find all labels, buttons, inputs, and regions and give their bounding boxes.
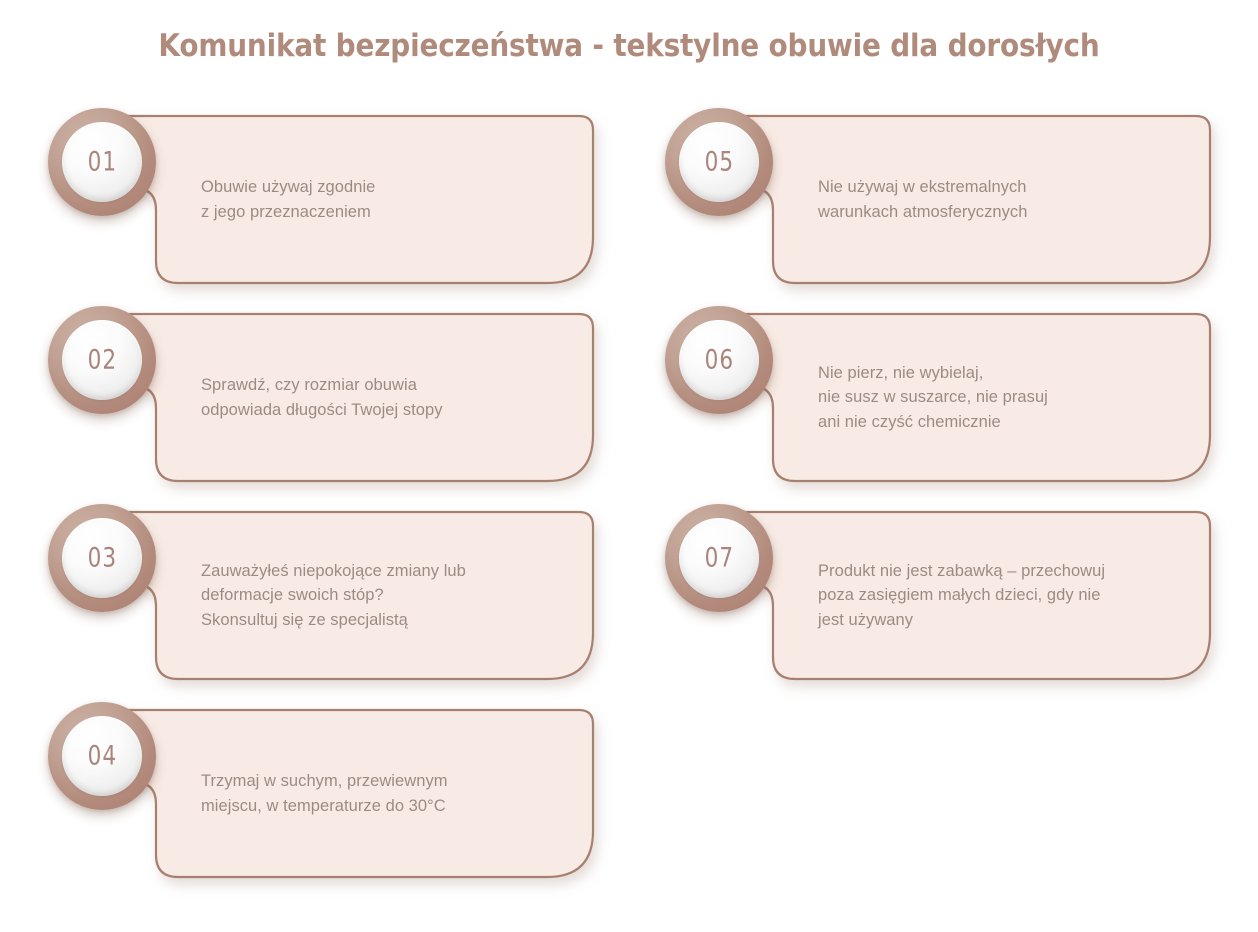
card-grid: Obuwie używaj zgodnie z jego przeznaczen…	[0, 0, 1258, 932]
card-number-badge: 06	[665, 306, 773, 414]
badge-inner-disc: 07	[679, 518, 759, 598]
card-text: Obuwie używaj zgodnie z jego przeznaczen…	[201, 116, 591, 283]
card-panel: Nie pierz, nie wybielaj, nie susz w susz…	[713, 314, 1210, 481]
safety-card: Produkt nie jest zabawką – przechowuj po…	[665, 504, 1210, 679]
card-number-badge: 03	[48, 504, 156, 612]
badge-number-label: 06	[704, 344, 733, 375]
badge-number-label: 05	[704, 146, 733, 177]
card-number-badge: 01	[48, 108, 156, 216]
card-panel: Produkt nie jest zabawką – przechowuj po…	[713, 512, 1210, 679]
card-text: Produkt nie jest zabawką – przechowuj po…	[818, 512, 1208, 679]
card-text: Nie używaj w ekstremalnych warunkach atm…	[818, 116, 1208, 283]
card-panel: Obuwie używaj zgodnie z jego przeznaczen…	[96, 116, 593, 283]
badge-inner-disc: 04	[62, 716, 142, 796]
badge-number-label: 03	[87, 542, 116, 573]
card-text: Sprawdź, czy rozmiar obuwia odpowiada dł…	[201, 314, 591, 481]
badge-number-label: 07	[704, 542, 733, 573]
card-text: Zauważyłeś niepokojące zmiany lub deform…	[201, 512, 591, 679]
card-number-badge: 07	[665, 504, 773, 612]
badge-inner-disc: 05	[679, 122, 759, 202]
card-text: Trzymaj w suchym, przewiewnym miejscu, w…	[201, 710, 591, 877]
card-number-badge: 04	[48, 702, 156, 810]
badge-number-label: 04	[87, 740, 116, 771]
safety-card: Trzymaj w suchym, przewiewnym miejscu, w…	[48, 702, 593, 877]
infographic-page: Komunikat bezpieczeństwa - tekstylne obu…	[0, 0, 1258, 932]
card-panel: Trzymaj w suchym, przewiewnym miejscu, w…	[96, 710, 593, 877]
safety-card: Nie używaj w ekstremalnych warunkach atm…	[665, 108, 1210, 283]
safety-card: Nie pierz, nie wybielaj, nie susz w susz…	[665, 306, 1210, 481]
badge-inner-disc: 01	[62, 122, 142, 202]
card-panel: Nie używaj w ekstremalnych warunkach atm…	[713, 116, 1210, 283]
card-text: Nie pierz, nie wybielaj, nie susz w susz…	[818, 314, 1208, 481]
badge-inner-disc: 06	[679, 320, 759, 400]
badge-inner-disc: 02	[62, 320, 142, 400]
safety-card: Obuwie używaj zgodnie z jego przeznaczen…	[48, 108, 593, 283]
safety-card: Zauważyłeś niepokojące zmiany lub deform…	[48, 504, 593, 679]
card-panel: Sprawdź, czy rozmiar obuwia odpowiada dł…	[96, 314, 593, 481]
safety-card: Sprawdź, czy rozmiar obuwia odpowiada dł…	[48, 306, 593, 481]
card-number-badge: 05	[665, 108, 773, 216]
badge-number-label: 01	[87, 146, 116, 177]
card-panel: Zauważyłeś niepokojące zmiany lub deform…	[96, 512, 593, 679]
card-number-badge: 02	[48, 306, 156, 414]
badge-inner-disc: 03	[62, 518, 142, 598]
badge-number-label: 02	[87, 344, 116, 375]
